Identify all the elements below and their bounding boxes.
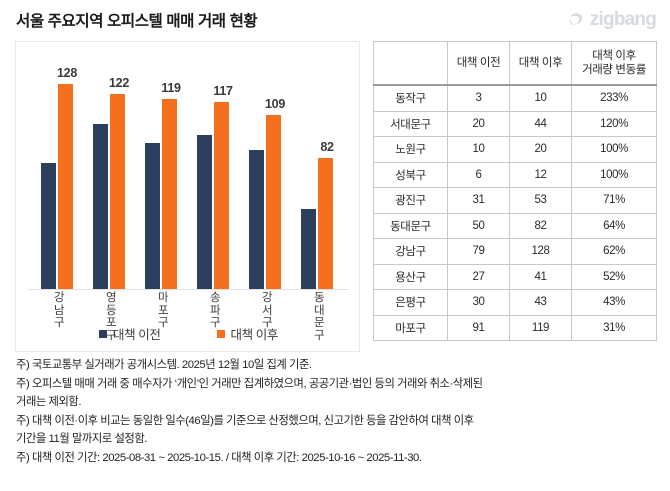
header-rate-line2: 거래량 변동률 xyxy=(582,64,646,76)
bar-after xyxy=(110,94,125,289)
cell-after: 128 xyxy=(510,239,572,265)
cell-district: 성북구 xyxy=(374,162,448,188)
cell-rate: 100% xyxy=(572,137,657,163)
cell-district: 마포구 xyxy=(374,315,448,341)
footnote-line: 주) 국토교통부 실거래가 공개시스템. 2025년 12월 10일 집계 기준… xyxy=(16,356,660,375)
cell-before: 10 xyxy=(448,137,510,163)
footnote-line: 기간을 11월 말까지로 설정함. xyxy=(16,430,660,449)
x-axis-label-char: 마 xyxy=(137,292,189,305)
bar-after xyxy=(162,99,177,289)
x-axis-label-char: 파 xyxy=(189,305,241,318)
x-axis-label-char: 대 xyxy=(293,305,345,318)
footnote-line: 주) 오피스텔 매매 거래 중 매수자가 ‘개인’인 거래만 집계하였으며, 공… xyxy=(16,375,660,394)
x-axis-label-char: 동 xyxy=(293,292,345,305)
bar-before xyxy=(145,143,160,289)
data-table-wrapper: 대책 이전 대책 이후 대책 이후 거래량 변동률 동작구310233%서대문구… xyxy=(373,41,656,341)
bar-before xyxy=(197,135,212,289)
chart-legend: 대책 이전대책 이후 xyxy=(16,324,361,343)
bar-after xyxy=(318,158,333,289)
table-header-row: 대책 이전 대책 이후 대책 이후 거래량 변동률 xyxy=(374,42,657,86)
table-row: 광진구315371% xyxy=(374,188,657,214)
bar-value-label: 82 xyxy=(310,140,344,154)
cell-before: 91 xyxy=(448,315,510,341)
x-axis-label-char: 남 xyxy=(33,305,85,318)
x-axis-label-char: 영 xyxy=(85,292,137,305)
cell-before: 27 xyxy=(448,264,510,290)
page-title: 서울 주요지역 오피스텔 매매 거래 현황 xyxy=(16,9,257,31)
bar-value-label: 122 xyxy=(102,76,136,90)
bar-group: 122 xyxy=(85,57,137,289)
table-row: 강남구7912862% xyxy=(374,239,657,265)
bar-group: 117 xyxy=(189,57,241,289)
table-row: 서대문구2044120% xyxy=(374,111,657,137)
chart-panel: 12812211911710982 강남구영등포구마포구송파구강서구동대문구 대… xyxy=(15,41,360,352)
cell-rate: 120% xyxy=(572,111,657,137)
footnote-line: 주) 대책 이전·이후 비교는 동일한 일수(46일)를 기준으로 산정했으며,… xyxy=(16,412,660,431)
cell-before: 30 xyxy=(448,290,510,316)
cell-after: 12 xyxy=(510,162,572,188)
x-axis-label-char: 등 xyxy=(85,305,137,318)
table-row: 마포구9111931% xyxy=(374,315,657,341)
bar-group: 82 xyxy=(293,57,345,289)
header-district xyxy=(374,42,448,86)
legend-label: 대책 이전 xyxy=(113,324,160,343)
table-row: 동작구310233% xyxy=(374,85,657,111)
bar-value-label: 128 xyxy=(50,66,84,80)
header-before: 대책 이전 xyxy=(448,42,510,86)
cell-district: 광진구 xyxy=(374,188,448,214)
cell-rate: 43% xyxy=(572,290,657,316)
footnote-line: 주) 대책 이전 기간: 2025-08-31 ~ 2025-10-15. / … xyxy=(16,449,660,468)
cell-after: 41 xyxy=(510,264,572,290)
table-row: 성북구612100% xyxy=(374,162,657,188)
bar-before xyxy=(249,150,264,289)
transactions-table: 대책 이전 대책 이후 대책 이후 거래량 변동률 동작구310233%서대문구… xyxy=(373,41,657,341)
legend-swatch xyxy=(99,330,107,338)
cell-district: 강남구 xyxy=(374,239,448,265)
table-row: 노원구1020100% xyxy=(374,137,657,163)
cell-rate: 31% xyxy=(572,315,657,341)
bar-value-label: 119 xyxy=(154,81,188,95)
bar-before xyxy=(93,124,108,289)
cell-district: 동작구 xyxy=(374,85,448,111)
cell-rate: 100% xyxy=(572,162,657,188)
cell-district: 은평구 xyxy=(374,290,448,316)
table-row: 용산구274152% xyxy=(374,264,657,290)
bar-after xyxy=(58,84,73,289)
x-axis-label-char: 서 xyxy=(241,305,293,318)
header-after: 대책 이후 xyxy=(510,42,572,86)
cell-after: 82 xyxy=(510,213,572,239)
x-axis-labels: 강남구영등포구마포구송파구강서구동대문구 xyxy=(16,292,361,354)
cell-before: 3 xyxy=(448,85,510,111)
footnote-line: 거래는 제외함. xyxy=(16,393,660,412)
cell-rate: 52% xyxy=(572,264,657,290)
bar-after xyxy=(266,115,281,289)
bar-group: 109 xyxy=(241,57,293,289)
cell-after: 53 xyxy=(510,188,572,214)
cell-before: 79 xyxy=(448,239,510,265)
zigbang-swoosh-icon xyxy=(568,11,585,28)
header-rate: 대책 이후 거래량 변동률 xyxy=(572,42,657,86)
cell-after: 119 xyxy=(510,315,572,341)
cell-district: 서대문구 xyxy=(374,111,448,137)
header-rate-line1: 대책 이후 xyxy=(592,50,636,62)
brand-name: zigbang xyxy=(590,10,656,29)
cell-before: 31 xyxy=(448,188,510,214)
bar-before xyxy=(301,209,316,289)
x-axis-label-char: 강 xyxy=(33,292,85,305)
table-row: 동대문구508264% xyxy=(374,213,657,239)
bar-group: 119 xyxy=(137,57,189,289)
x-axis-label-char: 포 xyxy=(137,305,189,318)
bar-value-label: 117 xyxy=(206,84,240,98)
bar-value-label: 109 xyxy=(258,97,292,111)
x-axis-label-char: 송 xyxy=(189,292,241,305)
cell-district: 노원구 xyxy=(374,137,448,163)
bar-before xyxy=(41,163,56,289)
x-axis-line xyxy=(28,289,349,290)
bar-group: 128 xyxy=(33,57,85,289)
plot-area: 12812211911710982 xyxy=(16,46,361,290)
cell-before: 6 xyxy=(448,162,510,188)
cell-after: 20 xyxy=(510,137,572,163)
page-header: 서울 주요지역 오피스텔 매매 거래 현황 zigbang xyxy=(0,0,670,40)
brand-logo: zigbang xyxy=(568,10,656,29)
cell-rate: 62% xyxy=(572,239,657,265)
cell-before: 50 xyxy=(448,213,510,239)
footnotes: 주) 국토교통부 실거래가 공개시스템. 2025년 12월 10일 집계 기준… xyxy=(16,356,660,467)
bar-after xyxy=(214,102,229,289)
cell-after: 44 xyxy=(510,111,572,137)
cell-rate: 64% xyxy=(572,213,657,239)
cell-district: 용산구 xyxy=(374,264,448,290)
legend-swatch xyxy=(217,330,225,338)
legend-item: 대책 이후 xyxy=(217,324,278,343)
cell-rate: 71% xyxy=(572,188,657,214)
legend-label: 대책 이후 xyxy=(231,324,278,343)
cell-before: 20 xyxy=(448,111,510,137)
cell-after: 10 xyxy=(510,85,572,111)
table-row: 은평구304343% xyxy=(374,290,657,316)
cell-district: 동대문구 xyxy=(374,213,448,239)
cell-after: 43 xyxy=(510,290,572,316)
cell-rate: 233% xyxy=(572,85,657,111)
x-axis-label-char: 강 xyxy=(241,292,293,305)
table-body: 동작구310233%서대문구2044120%노원구1020100%성북구6121… xyxy=(374,85,657,341)
legend-item: 대책 이전 xyxy=(99,324,160,343)
